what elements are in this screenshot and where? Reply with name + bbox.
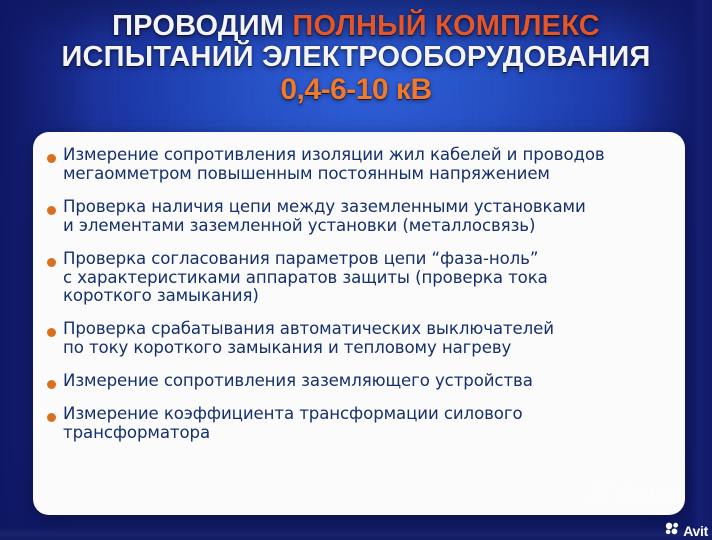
list-item-text: Проверка согласования параметров цепи “ф… xyxy=(63,250,675,307)
list-item-text: Проверка наличия цепи между заземленными… xyxy=(63,198,675,236)
bullet-dot-icon xyxy=(47,154,56,163)
list-item: Измерение сопротивления изоляции жил каб… xyxy=(47,146,675,184)
bullet-dot-icon xyxy=(47,258,56,267)
bullet-dot-icon xyxy=(47,380,56,389)
poster-root: ПРОВОДИМ ПОЛНЫЙ КОМПЛЕКС ИСПЫТАНИЙ ЭЛЕКТ… xyxy=(0,0,712,540)
list-item: Проверка наличия цепи между заземленными… xyxy=(47,198,675,236)
avito-watermark-small-text: Avit xyxy=(683,523,708,539)
list-item: Проверка согласования параметров цепи “ф… xyxy=(47,250,675,307)
list-item: Измерение коэффициента трансформации сил… xyxy=(47,405,675,443)
list-item-text: Измерение сопротивления изоляции жил каб… xyxy=(63,146,675,184)
headline-line-1-white: ПРОВОДИМ xyxy=(112,10,284,42)
headline-line-2: ИСПЫТАНИЙ ЭЛЕКТРООБОРУДОВАНИЯ xyxy=(0,43,712,73)
services-list: Измерение сопротивления изоляции жил каб… xyxy=(47,146,675,457)
avito-watermark-large-text: Avito xyxy=(618,480,677,509)
avito-logo-icon xyxy=(588,481,614,508)
headline-block: ПРОВОДИМ ПОЛНЫЙ КОМПЛЕКС ИСПЫТАНИЙ ЭЛЕКТ… xyxy=(0,12,712,106)
list-item-text: Измерение сопротивления заземляющего уст… xyxy=(63,372,675,391)
bullet-dot-icon xyxy=(47,328,56,337)
headline-line-1-orange: ПОЛНЫЙ КОМПЛЕКС xyxy=(292,10,599,42)
headline-line-3-voltage: 0,4-6-10 кВ xyxy=(0,75,712,106)
list-item-text: Измерение коэффициента трансформации сил… xyxy=(63,405,675,443)
background-bottom-bar xyxy=(0,526,712,540)
avito-watermark-large: Avito xyxy=(588,480,677,509)
avito-logo-icon xyxy=(665,522,680,540)
services-card: Измерение сопротивления изоляции жил каб… xyxy=(33,132,685,515)
list-item: Измерение сопротивления заземляющего уст… xyxy=(47,372,675,391)
headline-line-1: ПРОВОДИМ ПОЛНЫЙ КОМПЛЕКС xyxy=(0,12,712,42)
list-item-text: Проверка срабатывания автоматических вык… xyxy=(63,320,675,358)
avito-watermark-small: Avit xyxy=(665,522,708,540)
bullet-dot-icon xyxy=(47,206,56,215)
bullet-dot-icon xyxy=(47,413,56,422)
list-item: Проверка срабатывания автоматических вык… xyxy=(47,320,675,358)
